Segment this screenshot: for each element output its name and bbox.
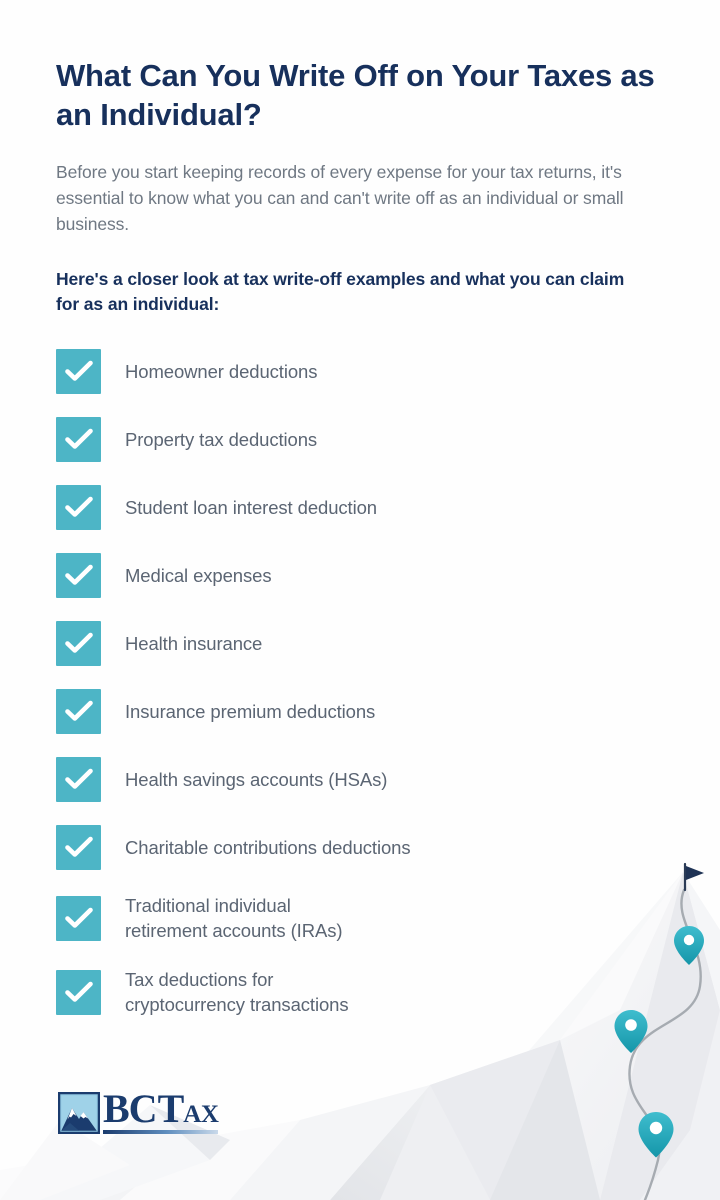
checkmark-icon <box>56 689 101 734</box>
list-item[interactable]: Tax deductions for cryptocurrency transa… <box>56 967 664 1018</box>
logo-wordmark: BC T AX <box>103 1090 218 1134</box>
map-pin-icon <box>639 1112 674 1158</box>
checkmark-icon <box>56 417 101 462</box>
logo-text-bc: BC <box>103 1090 157 1128</box>
list-item-label: Charitable contributions deductions <box>125 835 410 861</box>
list-item-label: Health savings accounts (HSAs) <box>125 767 387 793</box>
checkmark-icon <box>56 825 101 870</box>
list-item-label: Property tax deductions <box>125 427 317 453</box>
list-item[interactable]: Medical expenses <box>56 553 664 598</box>
list-item[interactable]: Student loan interest deduction <box>56 485 664 530</box>
logo-text-t: T <box>158 1090 185 1128</box>
logo-underline <box>103 1130 218 1134</box>
checkmark-icon <box>56 896 101 941</box>
bctax-logo[interactable]: BC T AX <box>58 1090 218 1134</box>
list-item-label: Medical expenses <box>125 563 271 589</box>
list-item[interactable]: Insurance premium deductions <box>56 689 664 734</box>
logo-text-ax: AX <box>183 1103 218 1127</box>
infographic-content: What Can You Write Off on Your Taxes as … <box>0 0 720 1018</box>
page-title: What Can You Write Off on Your Taxes as … <box>56 56 664 134</box>
checkmark-icon <box>56 553 101 598</box>
deductions-checklist: Homeowner deductions Property tax deduct… <box>56 349 664 1018</box>
checkmark-icon <box>56 970 101 1015</box>
list-item-label: Insurance premium deductions <box>125 699 375 725</box>
list-item[interactable]: Traditional individual retirement accoun… <box>56 893 664 944</box>
list-item[interactable]: Health savings accounts (HSAs) <box>56 757 664 802</box>
checkmark-icon <box>56 485 101 530</box>
list-item[interactable]: Homeowner deductions <box>56 349 664 394</box>
list-item-label: Student loan interest deduction <box>125 495 377 521</box>
list-item[interactable]: Charitable contributions deductions <box>56 825 664 870</box>
checkmark-icon <box>56 621 101 666</box>
list-item[interactable]: Property tax deductions <box>56 417 664 462</box>
list-item-label: Homeowner deductions <box>125 359 317 385</box>
list-item-label: Tax deductions for cryptocurrency transa… <box>125 967 349 1018</box>
list-item[interactable]: Health insurance <box>56 621 664 666</box>
lead-in-text: Here's a closer look at tax write-off ex… <box>56 267 631 317</box>
intro-paragraph: Before you start keeping records of ever… <box>56 160 636 237</box>
list-item-label: Traditional individual retirement accoun… <box>125 893 342 944</box>
list-item-label: Health insurance <box>125 631 262 657</box>
checkmark-icon <box>56 349 101 394</box>
mountain-icon <box>58 1092 100 1134</box>
checkmark-icon <box>56 757 101 802</box>
